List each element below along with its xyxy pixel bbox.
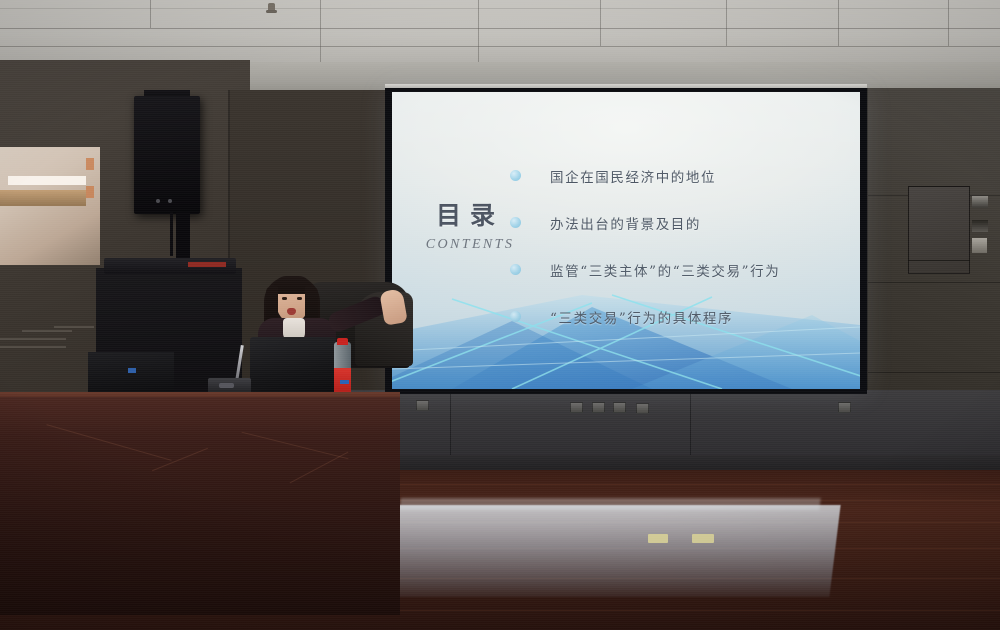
list-item: 监管“三类主体”的“三类交易”行为 [510, 254, 850, 285]
list-item: 国企在国民经济中的地位 [510, 160, 850, 191]
wall-outlet-1[interactable] [570, 402, 583, 413]
podium-led-blue [340, 380, 349, 384]
sprinkler-head [268, 3, 275, 12]
floor-object-2 [692, 534, 714, 543]
speaker-cable [170, 212, 173, 256]
bottle-cap [337, 338, 348, 345]
bullet-dot-icon [510, 217, 521, 228]
wall-switch-lower[interactable] [972, 238, 987, 253]
bullet-dot-icon [510, 264, 521, 275]
window-marker-upper [86, 158, 94, 170]
bullet-dot-icon [510, 311, 521, 322]
projection-screen: 目录 CONTENTS 国企在国民经济中的地位 办法出台的背景及目的 监管“三类… [392, 92, 860, 389]
window-sill-board [0, 190, 86, 206]
wall-switch-middle[interactable] [972, 220, 988, 232]
console-led-blue [128, 368, 136, 373]
wall-outlet-4[interactable] [636, 403, 649, 414]
wall-outlet-3[interactable] [613, 402, 626, 413]
bullet-label-2: 办法出台的背景及目的 [550, 213, 701, 233]
window-light-strip [8, 176, 86, 185]
ceiling [0, 0, 1000, 62]
wall-outlet-5[interactable] [838, 402, 851, 413]
window-marker-lower [86, 186, 94, 198]
list-item: 办法出台的背景及目的 [510, 207, 850, 238]
floor-object-1 [648, 534, 668, 543]
rack-indicator-strip [188, 262, 226, 267]
presenter-eye-left [282, 297, 287, 300]
presenter-mouth [287, 308, 296, 315]
wall-outlet-2[interactable] [592, 402, 605, 413]
dell-laptop[interactable] [250, 337, 336, 394]
podium-av-console[interactable] [88, 352, 174, 394]
bullet-label-1: 国企在国民经济中的地位 [550, 166, 716, 186]
wall-speaker-icon [134, 96, 200, 214]
slide-bullet-list: 国企在国民经济中的地位 办法出台的背景及目的 监管“三类主体”的“三类交易”行为… [510, 160, 850, 348]
presenter-eye-right [297, 297, 302, 300]
bullet-label-4: “三类交易”行为的具体程序 [550, 307, 733, 327]
panel-divider [908, 260, 970, 261]
bullet-label-3: 监管“三类主体”的“三类交易”行为 [550, 260, 780, 280]
bullet-dot-icon [510, 170, 521, 181]
wall-outlet-6[interactable] [416, 400, 429, 411]
presentation-room-photo: 目录 CONTENTS 国企在国民经济中的地位 办法出台的背景及目的 监管“三类… [0, 0, 1000, 630]
wooden-podium [0, 397, 400, 615]
microphone-button[interactable] [219, 383, 234, 388]
list-item: “三类交易”行为的具体程序 [510, 301, 850, 332]
wall-switch-upper[interactable] [972, 196, 988, 208]
screen-reflection-on-floor [379, 505, 840, 597]
reflective-window-panel [0, 147, 100, 265]
